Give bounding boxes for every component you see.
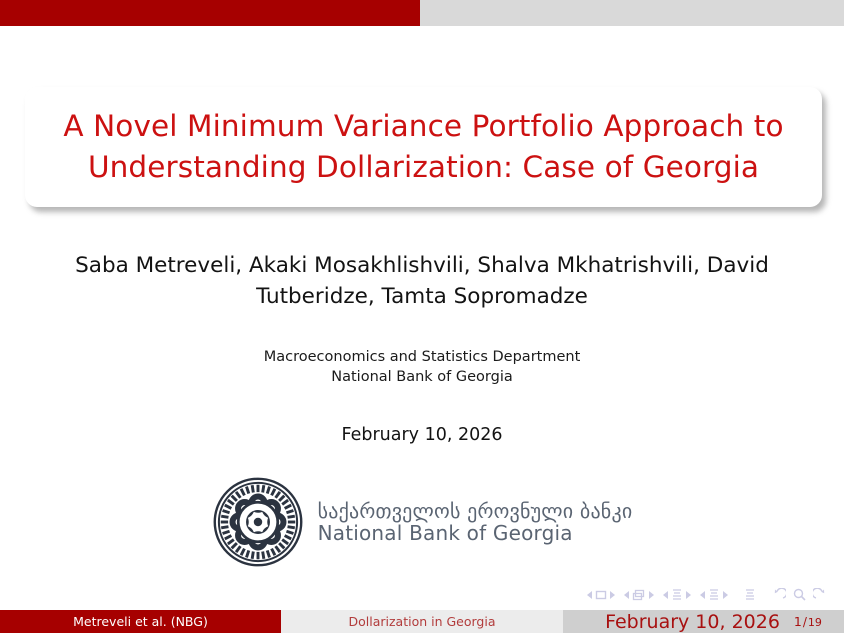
institute-organization: National Bank of Georgia — [0, 367, 844, 387]
nbg-name-georgian: საქართველოს ეროვნული ბანკი — [318, 500, 633, 522]
forward-icon[interactable] — [813, 588, 826, 601]
institute-department: Macroeconomics and Statistics Department — [0, 347, 844, 367]
subsection-nav-group[interactable] — [662, 588, 692, 601]
footer-page-current: 1 — [794, 614, 802, 629]
subsection-icon[interactable] — [671, 588, 683, 601]
section-icon[interactable] — [708, 588, 720, 601]
footer-author: Metreveli et al. (NBG) — [0, 610, 281, 633]
presentation-slide: A Novel Minimum Variance Portfolio Appro… — [0, 0, 844, 633]
beamer-navigation-symbols[interactable] — [586, 588, 826, 601]
nbg-logo: საქართველოს ეროვნული ბანკი National Bank… — [0, 476, 844, 568]
header-bar — [0, 0, 844, 26]
title-block: A Novel Minimum Variance Portfolio Appro… — [25, 87, 822, 207]
frame-nav-group[interactable] — [623, 589, 655, 601]
section-prev-icon[interactable] — [699, 590, 706, 600]
author-list-line-1: Saba Metreveli, Akaki Mosakhlishvili, Sh… — [0, 250, 844, 281]
footer-page-number: 1 / 19 — [794, 614, 822, 629]
frame-icon[interactable] — [632, 589, 646, 601]
author-list-line-2: Tutberidze, Tamta Sopromadze — [0, 281, 844, 312]
search-icon[interactable] — [793, 588, 806, 601]
footer-date: February 10, 2026 — [605, 611, 780, 633]
page-title-line-2: Understanding Dollarization: Case of Geo… — [88, 147, 759, 188]
nbg-name-english: National Bank of Georgia — [318, 522, 633, 544]
subsection-next-icon[interactable] — [685, 590, 692, 600]
slide-nav-group[interactable] — [586, 589, 616, 601]
header-bar-left-band — [0, 0, 420, 26]
page-title-line-1: A Novel Minimum Variance Portfolio Appro… — [63, 106, 783, 147]
nbg-rosette-emblem-icon — [212, 476, 304, 568]
title-card: A Novel Minimum Variance Portfolio Appro… — [25, 87, 822, 207]
frame-next-icon[interactable] — [648, 590, 655, 600]
footer-page-total: 19 — [808, 616, 822, 629]
section-next-icon[interactable] — [722, 590, 729, 600]
slide-footer: Metreveli et al. (NBG) Dollarization in … — [0, 610, 844, 633]
slide-next-icon[interactable] — [609, 590, 616, 600]
footer-date-page: February 10, 2026 1 / 19 — [563, 610, 844, 633]
section-nav-group[interactable] — [699, 588, 729, 601]
author-list: Saba Metreveli, Akaki Mosakhlishvili, Sh… — [0, 250, 844, 312]
presentation-date: February 10, 2026 — [0, 425, 844, 445]
back-icon[interactable] — [773, 588, 786, 601]
subsection-prev-icon[interactable] — [662, 590, 669, 600]
nbg-logo-text: საქართველოს ეროვნული ბანკი National Bank… — [318, 500, 633, 545]
header-bar-right-band — [420, 0, 844, 26]
document-icon[interactable] — [744, 588, 756, 601]
frame-prev-icon[interactable] — [623, 590, 630, 600]
footer-short-title: Dollarization in Georgia — [281, 610, 563, 633]
slide-icon[interactable] — [595, 589, 607, 601]
slide-prev-icon[interactable] — [586, 590, 593, 600]
institute-block: Macroeconomics and Statistics Department… — [0, 347, 844, 387]
